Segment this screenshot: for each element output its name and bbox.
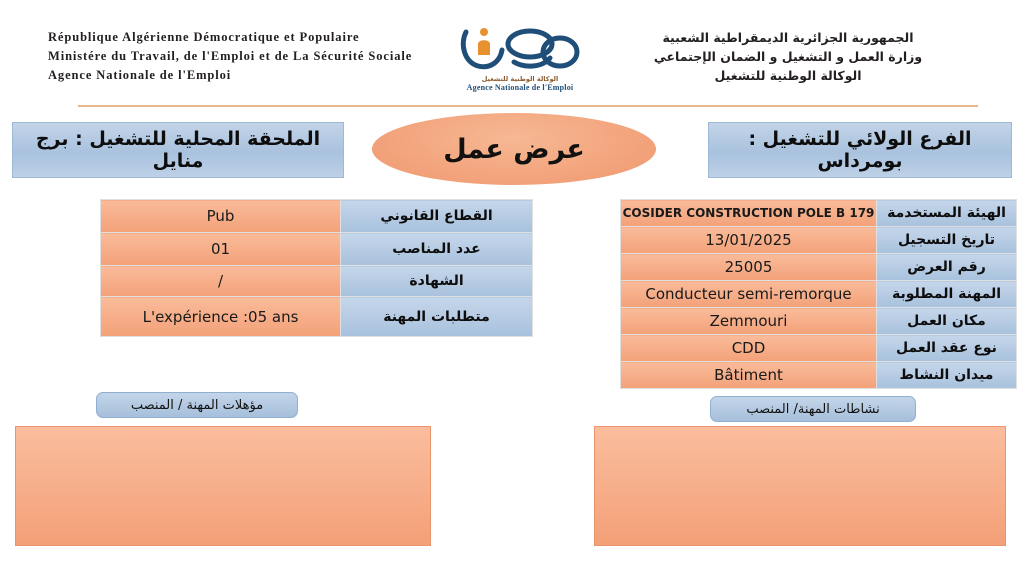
right-row-5-value: CDD [621, 335, 877, 362]
left-details-table: Pub القطاع القانوني 01 عدد المناصب / الش… [100, 199, 533, 337]
document-header: République Algérienne Démocratique et Po… [0, 0, 1024, 106]
header-french-line-1: République Algérienne Démocratique et Po… [48, 28, 448, 47]
right-row-4-label: مكان العمل [877, 308, 1017, 335]
left-row-3-label: متطلبات المهنة [341, 297, 533, 337]
right-row-4-value: Zemmouri [621, 308, 877, 335]
table-row: 13/01/2025 تاريخ التسجيل [621, 227, 1017, 254]
right-row-6-label: ميدان النشاط [877, 362, 1017, 389]
activities-section-label: نشاطات المهنة/ المنصب [710, 396, 916, 422]
right-row-1-label: تاريخ التسجيل [877, 227, 1017, 254]
header-arabic-text: الجمهورية الجزائرية الديمقراطية الشعبية … [578, 28, 998, 85]
header-french-text: République Algérienne Démocratique et Po… [48, 28, 448, 85]
table-row: COSIDER CONSTRUCTION POLE B 179 الهيئة ا… [621, 200, 1017, 227]
left-row-1-value: 01 [101, 233, 341, 266]
left-row-0-label: القطاع القانوني [341, 200, 533, 233]
right-row-2-value: 25005 [621, 254, 877, 281]
right-row-2-label: رقم العرض [877, 254, 1017, 281]
left-table-body: Pub القطاع القانوني 01 عدد المناصب / الش… [101, 200, 533, 337]
job-offer-title-oval: عرض عمل [372, 113, 656, 185]
table-row: Pub القطاع القانوني [101, 200, 533, 233]
table-row: L'expérience :05 ans متطلبات المهنة [101, 297, 533, 337]
right-row-3-value: Conducteur semi-remorque [621, 281, 877, 308]
table-row: 01 عدد المناصب [101, 233, 533, 266]
left-row-3-value: L'expérience :05 ans [101, 297, 341, 337]
header-french-line-2: Ministére du Travail, de l'Emploi et de … [48, 47, 448, 66]
header-divider [78, 105, 978, 107]
local-office-banner: الملحقة المحلية للتشغيل : برج منايل [12, 122, 344, 178]
table-row: Zemmouri مكان العمل [621, 308, 1017, 335]
left-row-2-value: / [101, 266, 341, 297]
table-row: Conducteur semi-remorque المهنة المطلوبة [621, 281, 1017, 308]
qualifications-section-label: مؤهلات المهنة / المنصب [96, 392, 298, 418]
header-french-line-3: Agence Nationale de l'Emploi [48, 66, 448, 85]
header-arabic-line-2: وزارة العمل و التشغيل و الضمان الإجتماعي [578, 47, 998, 66]
right-row-1-value: 13/01/2025 [621, 227, 877, 254]
activities-content-box [594, 426, 1006, 546]
right-row-6-value: Bâtiment [621, 362, 877, 389]
table-row: Bâtiment ميدان النشاط [621, 362, 1017, 389]
table-row: CDD نوع عقد العمل [621, 335, 1017, 362]
anem-logo-french-caption: Agence Nationale de l'Emploi [452, 83, 588, 92]
table-row: 25005 رقم العرض [621, 254, 1017, 281]
anem-logo-arabic-caption: الوكالة الوطنية للتشغيل [452, 75, 588, 83]
right-details-table: COSIDER CONSTRUCTION POLE B 179 الهيئة ا… [620, 199, 1017, 389]
right-row-5-label: نوع عقد العمل [877, 335, 1017, 362]
left-row-0-value: Pub [101, 200, 341, 233]
qualifications-content-box [15, 426, 431, 546]
wilaya-office-banner: الفرع الولائي للتشغيل : بومرداس [708, 122, 1012, 178]
left-row-1-label: عدد المناصب [341, 233, 533, 266]
header-arabic-line-1: الجمهورية الجزائرية الديمقراطية الشعبية [578, 28, 998, 47]
right-row-0-label: الهيئة المستخدمة [877, 200, 1017, 227]
table-row: / الشهادة [101, 266, 533, 297]
right-table-body: COSIDER CONSTRUCTION POLE B 179 الهيئة ا… [621, 200, 1017, 389]
left-row-2-label: الشهادة [341, 266, 533, 297]
right-row-3-label: المهنة المطلوبة [877, 281, 1017, 308]
anem-logo-mark [458, 22, 582, 74]
right-row-0-value: COSIDER CONSTRUCTION POLE B 179 [621, 200, 877, 227]
header-arabic-line-3: الوكالة الوطنية للتشغيل [578, 66, 998, 85]
anem-logo: الوكالة الوطنية للتشغيل Agence Nationale… [452, 22, 588, 102]
